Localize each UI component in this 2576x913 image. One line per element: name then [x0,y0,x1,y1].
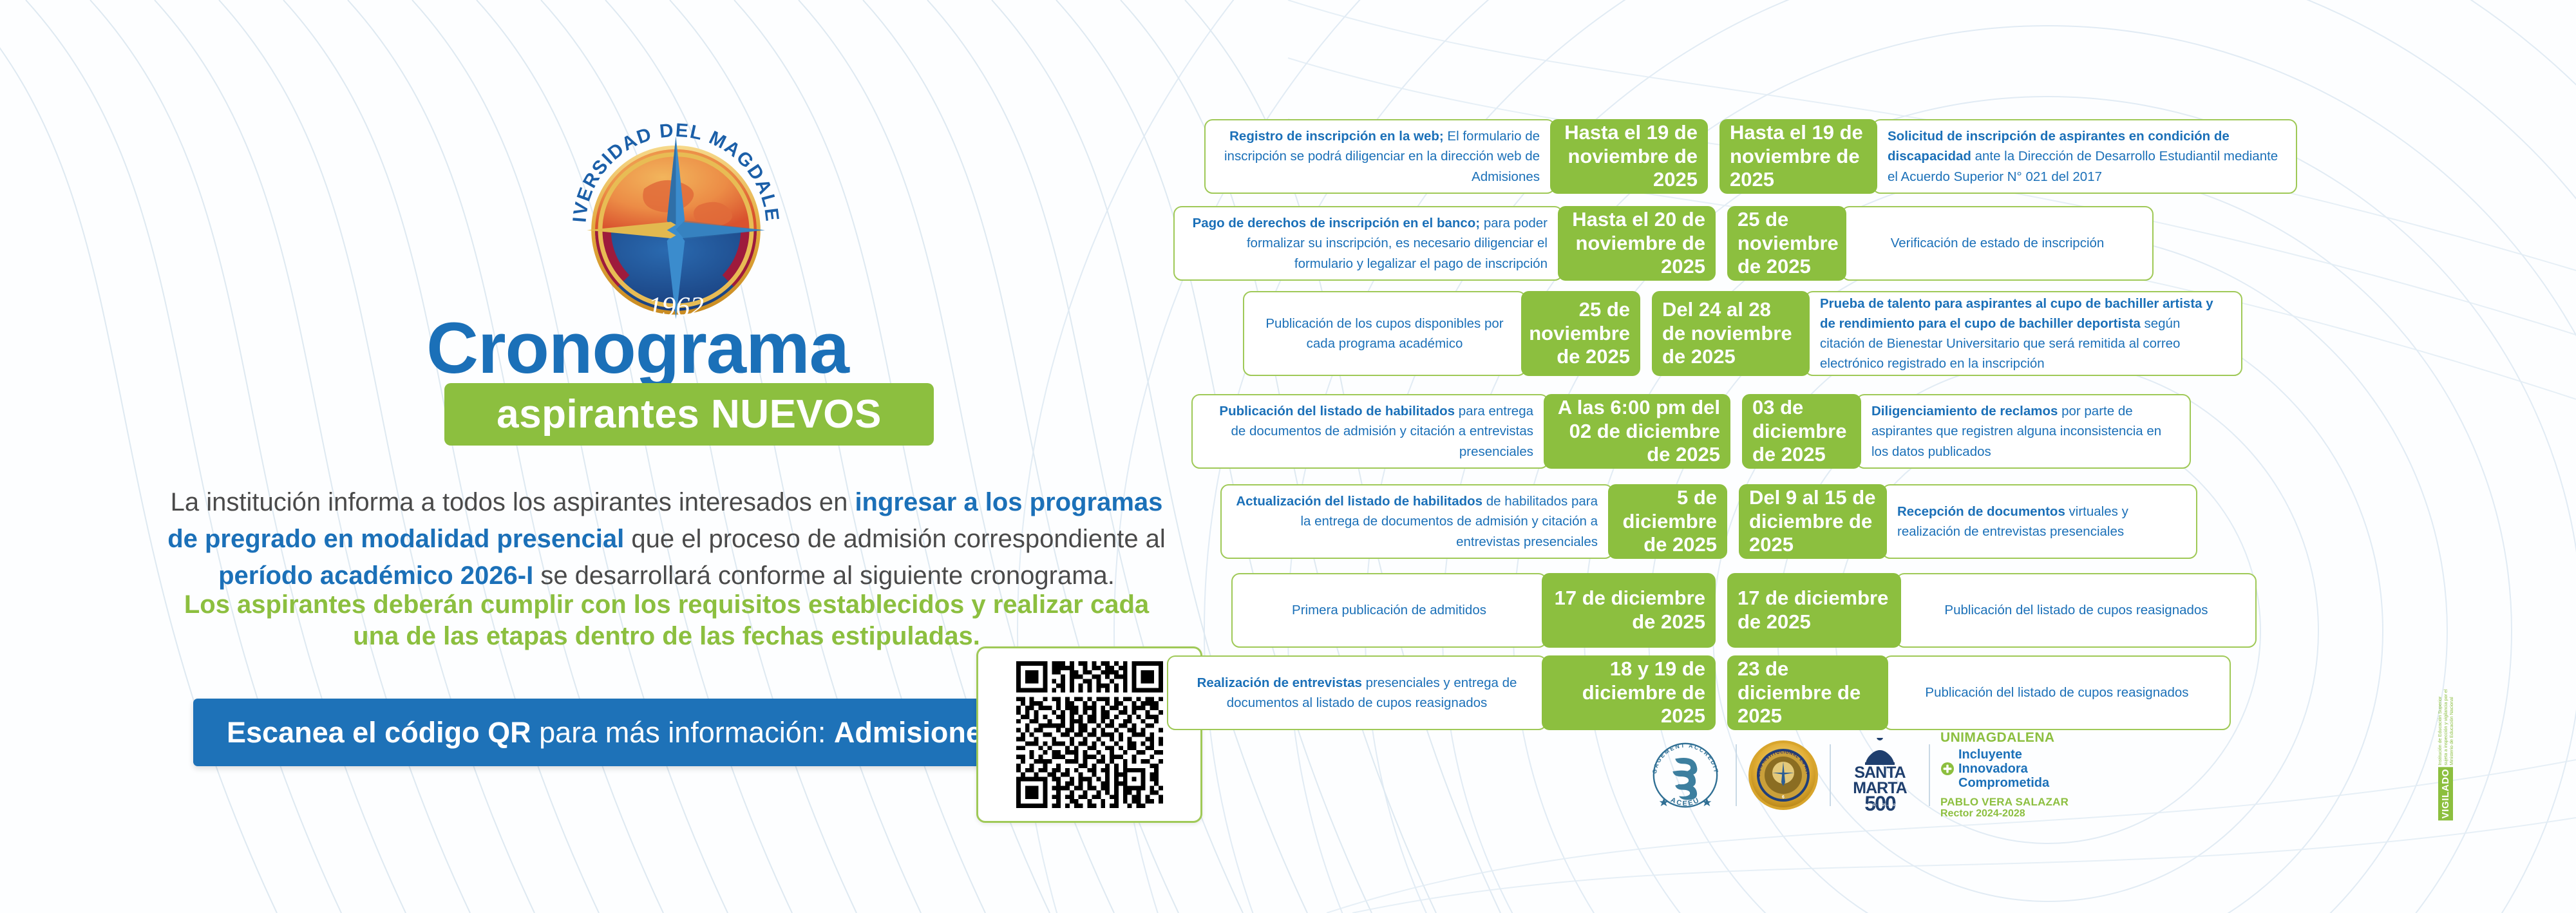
subtitle-badge: aspirantes NUEVOS [444,383,934,446]
timeline-right-text: Publicación del listado de cupos reasign… [1883,655,2231,730]
row7-left-bold: Realización de entrevistas [1197,675,1362,690]
row1-left-bold: Registro de inscripción en la web; [1229,129,1444,144]
row6-right-rest: Publicación del listado de cupos reasign… [1944,603,2208,617]
row2-right-rest: Verificación de estado de inscripción [1891,236,2105,250]
row5-left-bold: Actualización del listado de habilitados [1236,494,1482,509]
claim-word-2: Innovadora [1958,762,2049,776]
rector-term: Rector 2024-2028 [1940,808,2069,819]
institutional-accreditation-seal: ACREDITACIÓN INSTITUCIONAL EN ALTA CALID… [1747,737,1819,813]
timeline-date-right: 25 de noviembre de 2025 [1727,206,1846,281]
row2-left-bold: Pago de derechos de inscripción en el ba… [1193,216,1481,231]
qr-banner-bold: Escanea el código QR [227,716,531,749]
timeline-left-text: Realización de entrevistas presenciales … [1167,655,1547,730]
timeline-date-left: Hasta el 19 de noviembre de 2025 [1550,119,1708,194]
row5-right-bold: Recepción de documentos [1897,504,2065,519]
aceeu-accreditation-logo: ENGAGEMENT ACCREDITED ACEEU [1645,737,1725,813]
timeline-date-left: 5 de diciembre de 2025 [1608,484,1727,559]
timeline-row: Publicación del listado de habilitados p… [1191,394,2191,469]
timeline-right-text: Prueba de talento para aspirantes al cup… [1804,291,2242,376]
timeline-row: Actualización del listado de habilitados… [1220,484,2197,559]
timeline-row: Primera publicación de admitidos 17 de d… [1231,573,2257,648]
row4-left-bold: Publicación del listado de habilitados [1219,404,1455,419]
santa-marta-500-logo: SANTA MARTA 500 AÑOS · 1525 - 2025 [1841,737,1918,813]
intro-paragraph: La institución informa a todos los aspir… [164,484,1169,594]
timeline-date-right: Del 9 al 15 de diciembre de 2025 [1739,484,1887,559]
intro-note: Los aspirantes deberán cumplir con los r… [164,589,1169,652]
timeline-date-left: Hasta el 20 de noviembre de 2025 [1558,206,1716,281]
qr-banner-link: Admisiones [834,716,998,749]
qr-banner-light: para más información: [531,716,834,749]
timeline-date-right: 03 de diciembre de 2025 [1742,394,1861,469]
vigilado-text: Institución de Educación Superior sujeta… [2437,684,2454,766]
plus-person-icon [1940,762,1955,776]
timeline-date-right: Del 24 al 28 de noviembre de 2025 [1652,291,1810,376]
left-intro-panel: UNIVERSIDAD DEL MAGDALENA 1962 Cronog [0,0,1275,913]
claim-brand: UNIMAGDALENA [1940,731,2069,746]
intro-part-2: que el proceso de admisión correspondien… [624,525,1166,553]
row4-right-bold: Diligenciamiento de reclamos [1871,404,2058,419]
vigilado-badge: VIGILADO [2438,767,2453,820]
footer-divider [1736,744,1737,806]
timeline-date-right: Hasta el 19 de noviembre de 2025 [1719,119,1877,194]
qr-banner[interactable]: Escanea el código QR para más informació… [193,699,989,766]
timeline-left-text: Actualización del listado de habilitados… [1220,484,1613,559]
timeline-right-text: Verificación de estado de inscripción [1841,206,2154,281]
sm-line3: 500 [1864,792,1896,813]
subtitle-bold: NUEVOS [711,392,882,437]
timeline-left-text: Publicación del listado de habilitados p… [1191,394,1549,469]
timeline-date-right: 23 de diciembre de 2025 [1727,655,1888,730]
timeline-right-text: Diligenciamiento de reclamos por parte d… [1856,394,2191,469]
footer-divider [1830,744,1831,806]
sm-years: AÑOS · 1525 - 2025 [1865,803,1897,807]
timeline-right-text: Recepción de documentos virtuales y real… [1882,484,2197,559]
timeline-left-text: Primera publicación de admitidos [1231,573,1547,648]
timeline-right-text: Publicación del listado de cupos reasign… [1896,573,2257,648]
row7-right-rest: Publicación del listado de cupos reasign… [1925,685,2188,700]
timeline-date-left: A las 6:00 pm del 02 de diciembre de 202… [1544,394,1730,469]
footer-logos: ENGAGEMENT ACCREDITED ACEEU [1645,734,2154,816]
claim-word-3: Comprometida [1958,776,2049,790]
vigilado-strip: VIGILADO Institución de Educación Superi… [2438,684,2452,820]
footer-divider [1929,744,1930,806]
rector-name: PABLO VERA SALAZAR [1940,796,2069,808]
intro-part-1: La institución informa a todos los aspir… [171,488,855,516]
row6-left-rest: Primera publicación de admitidos [1292,603,1486,617]
timeline-row: Pago de derechos de inscripción en el ba… [1173,206,2154,281]
timeline-left-text: Pago de derechos de inscripción en el ba… [1173,206,1563,281]
subtitle-light: aspirantes [497,392,711,437]
unimagdalena-claim: UNIMAGDALENA Incluyente Innovadora Compr… [1940,737,2069,814]
page-title: Cronograma [0,312,1275,384]
timeline-left-text: Registro de inscripción en la web; El fo… [1204,119,1555,194]
claim-word-1: Incluyente [1958,748,2049,762]
poster-canvas: UNIVERSIDAD DEL MAGDALENA 1962 Cronog [0,0,2576,913]
timeline-right-text: Solicitud de inscripción de aspirantes e… [1872,119,2297,194]
svg-text:ENGAGEMENT ACCREDITED: ENGAGEMENT ACCREDITED [1645,737,1719,774]
timeline-date-left: 18 y 19 de diciembre de 2025 [1542,655,1716,730]
timeline-row: Registro de inscripción en la web; El fo… [1204,119,2297,194]
intro-part-3: se desarrollará conforme al siguiente cr… [533,561,1115,590]
seal-year: 6 [1782,795,1785,800]
timeline-row: Realización de entrevistas presenciales … [1167,655,2231,730]
timeline-row: Publicación de los cupos disponibles por… [1243,291,2242,376]
row3-left-rest: Publicación de los cupos disponibles por… [1265,316,1503,351]
timeline-date-left: 25 de noviembre de 2025 [1521,291,1640,376]
aceeu-top-text: ENGAGEMENT ACCREDITED [1645,737,1719,774]
intro-highlight-2: período académico 2026-I [218,561,533,590]
qr-code[interactable] [1016,661,1163,808]
timeline-date-right: 17 de diciembre de 2025 [1727,573,1901,648]
timeline-date-left: 17 de diciembre de 2025 [1542,573,1716,648]
timeline-left-text: Publicación de los cupos disponibles por… [1243,291,1526,376]
